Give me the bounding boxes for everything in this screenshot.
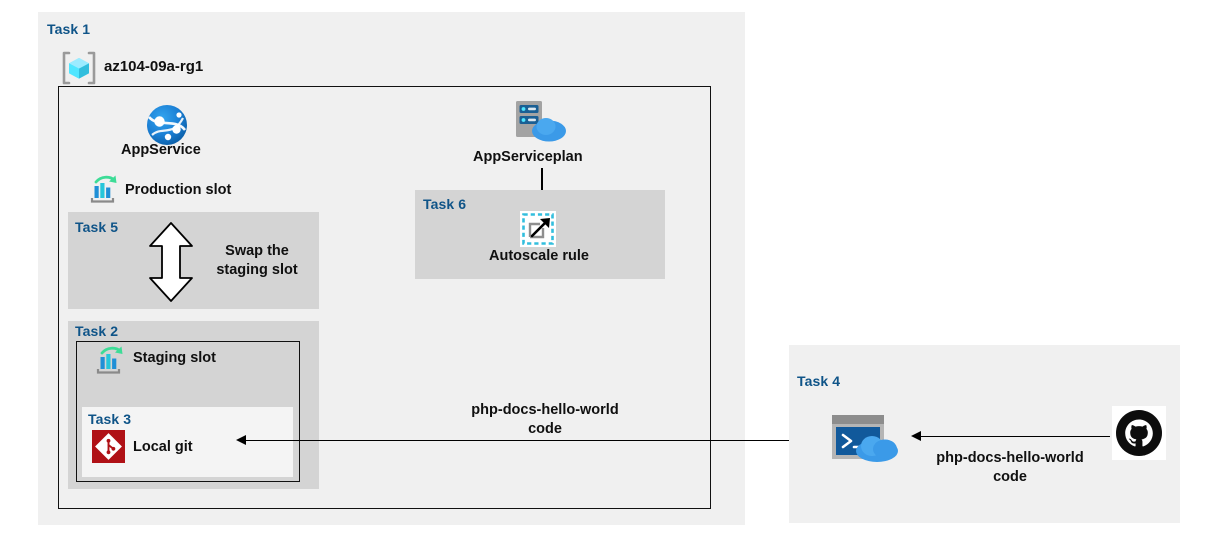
task6-label: Task 6 (423, 196, 466, 212)
swap-vertical-arrow-icon (148, 221, 194, 303)
git-icon (92, 430, 125, 463)
appservice-label: AppService (121, 142, 201, 158)
appserviceplan-label: AppServiceplan (473, 149, 583, 165)
task1-label: Task 1 (47, 21, 90, 37)
connector-cloudshell-to-localgit-head (236, 435, 246, 445)
connector-github-to-cloudshell-line (920, 436, 1110, 438)
resource-group-name: az104-09a-rg1 (104, 58, 203, 75)
autoscale-rule-label: Autoscale rule (489, 248, 589, 264)
cloud-shell-icon (830, 413, 902, 465)
task5-action-label: Swap the staging slot (202, 242, 312, 280)
local-git-label: Local git (133, 439, 193, 455)
github-icon (1112, 406, 1166, 460)
deployment-slot-icon (88, 174, 120, 206)
connector-github-to-cloudshell-head (911, 431, 921, 441)
center-transfer-label: php-docs-hello-world code (455, 401, 635, 439)
task2-label: Task 2 (75, 323, 118, 339)
deployment-slot-icon (94, 345, 126, 377)
task4-label: Task 4 (797, 373, 840, 389)
task5-label: Task 5 (75, 219, 118, 235)
staging-slot-label: Staging slot (133, 350, 216, 366)
app-service-plan-icon (512, 98, 572, 146)
github-transfer-label: php-docs-hello-world code (920, 449, 1100, 487)
resource-group-icon (60, 49, 98, 87)
autoscale-icon (520, 211, 556, 247)
connector-cloudshell-to-localgit-line (245, 440, 815, 442)
task3-label: Task 3 (88, 411, 131, 427)
app-service-icon (146, 104, 188, 146)
production-slot-label: Production slot (125, 182, 231, 198)
